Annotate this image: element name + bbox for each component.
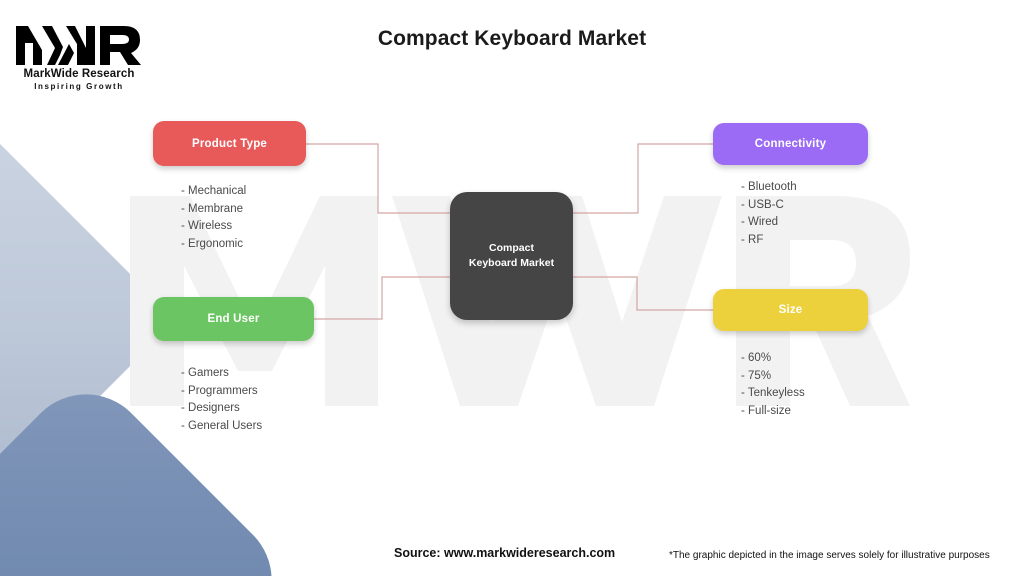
branch-list-size: - 60% - 75% - Tenkeyless - Full-size <box>741 350 868 420</box>
list-item: - USB-C <box>741 197 868 215</box>
branch-list-end-user: - Gamers - Programmers - Designers - Gen… <box>181 365 314 435</box>
list-item: - Bluetooth <box>741 179 868 197</box>
list-item: - 75% <box>741 368 868 386</box>
branch-end-user: End User - Gamers - Programmers - Design… <box>153 297 314 435</box>
list-item: - Gamers <box>181 365 314 383</box>
branch-title-connectivity: Connectivity <box>755 138 826 150</box>
list-item: - Wireless <box>181 218 306 236</box>
branch-header-end-user[interactable]: End User <box>153 297 314 341</box>
connector-size <box>573 277 713 310</box>
list-item: - Tenkeyless <box>741 385 868 403</box>
branch-header-size[interactable]: Size <box>713 289 868 331</box>
list-item: - RF <box>741 232 868 250</box>
list-item: - 60% <box>741 350 868 368</box>
list-item: - General Users <box>181 418 314 436</box>
center-node-label: Compact Keyboard Market <box>464 241 560 271</box>
branch-size: Size - 60% - 75% - Tenkeyless - Full-siz… <box>713 289 868 420</box>
branch-list-connectivity: - Bluetooth - USB-C - Wired - RF <box>741 179 868 249</box>
list-item: - Ergonomic <box>181 236 306 254</box>
branch-connectivity: Connectivity - Bluetooth - USB-C - Wired… <box>713 123 868 249</box>
list-item: - Wired <box>741 214 868 232</box>
list-item: - Full-size <box>741 403 868 421</box>
connector-product-type <box>306 144 450 213</box>
infographic-page: MarkWide Research Inspiring Growth Compa… <box>0 0 1024 576</box>
branch-header-product-type[interactable]: Product Type <box>153 121 306 166</box>
footer-source: Source: www.markwideresearch.com <box>394 546 615 560</box>
branch-title-product-type: Product Type <box>192 138 267 150</box>
list-item: - Designers <box>181 400 314 418</box>
connector-end-user <box>314 277 450 319</box>
branch-title-size: Size <box>779 304 803 316</box>
connector-connectivity <box>573 144 713 213</box>
footer-disclaimer: *The graphic depicted in the image serve… <box>669 550 990 561</box>
list-item: - Programmers <box>181 383 314 401</box>
list-item: - Mechanical <box>181 183 306 201</box>
branch-title-end-user: End User <box>207 313 259 325</box>
branch-header-connectivity[interactable]: Connectivity <box>713 123 868 165</box>
branch-list-product-type: - Mechanical - Membrane - Wireless - Erg… <box>181 183 306 253</box>
center-node[interactable]: Compact Keyboard Market <box>450 192 573 320</box>
list-item: - Membrane <box>181 201 306 219</box>
branch-product-type: Product Type - Mechanical - Membrane - W… <box>153 121 306 253</box>
